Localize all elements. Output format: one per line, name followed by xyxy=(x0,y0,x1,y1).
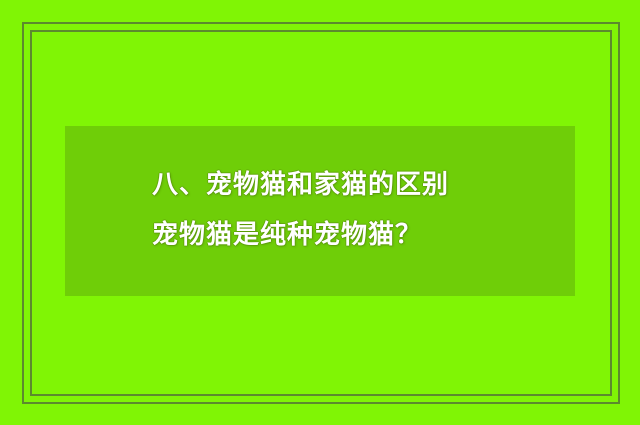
caption-panel: 八、宠物猫和家猫的区别 宠物猫是纯种宠物猫？ xyxy=(65,126,575,296)
poster-canvas: 八、宠物猫和家猫的区别 宠物猫是纯种宠物猫？ xyxy=(0,0,640,425)
headline-block: 八、宠物猫和家猫的区别 宠物猫是纯种宠物猫？ xyxy=(152,160,572,260)
headline-line-2: 宠物猫是纯种宠物猫？ xyxy=(152,210,572,260)
headline-line-1: 八、宠物猫和家猫的区别 xyxy=(152,160,572,210)
